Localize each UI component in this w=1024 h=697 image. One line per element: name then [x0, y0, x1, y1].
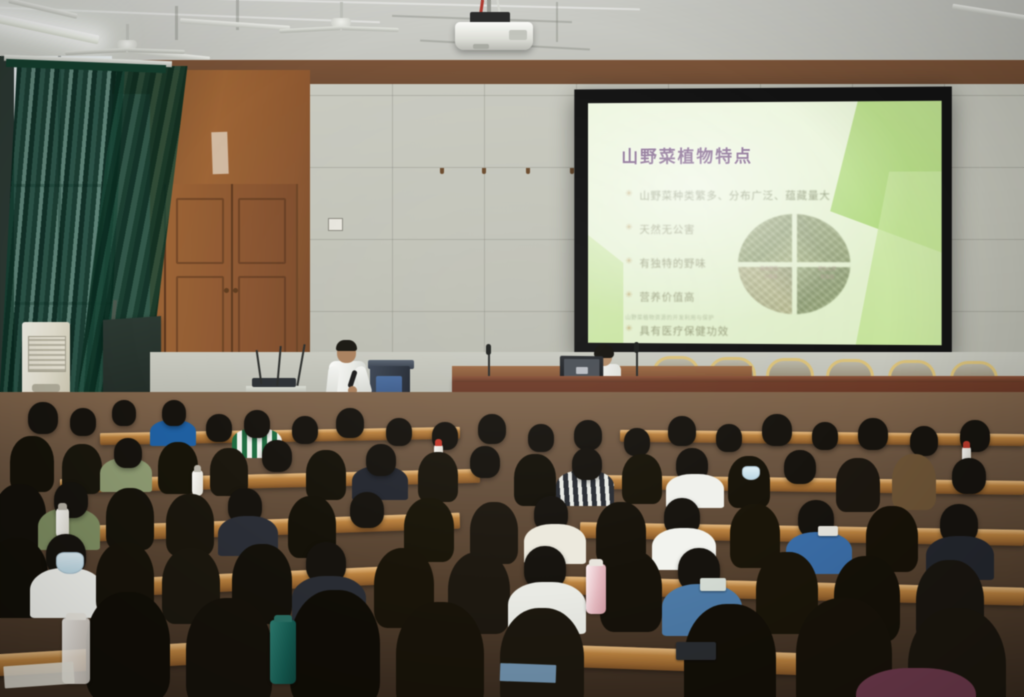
slide-footer-note: 山野菜植物资源的开发利用与保护 — [625, 313, 714, 321]
bullet-marker-icon: ✳ — [625, 256, 633, 269]
bullet-marker-icon: ✳ — [625, 222, 633, 235]
slide-bullet-text: 天然无公害 — [639, 222, 695, 237]
audience-head — [952, 458, 986, 494]
audience-head — [622, 454, 662, 504]
water-bottle — [192, 470, 203, 496]
collage-label: 蕨类野菜 — [760, 266, 778, 272]
audience-head — [106, 488, 154, 550]
audience-head — [366, 444, 396, 476]
audience-head — [112, 400, 136, 426]
slide-decoration-shape — [588, 232, 623, 345]
audience-seating — [0, 392, 1024, 697]
audience-head — [166, 494, 214, 556]
audience-head — [716, 424, 742, 452]
paper-on-desk — [500, 663, 557, 683]
audience-head — [306, 450, 346, 500]
audience-head — [244, 410, 270, 438]
slide-bullet-text: 有独特的野味 — [639, 256, 706, 271]
audience-head — [470, 446, 500, 478]
thermos-bottle — [270, 620, 296, 684]
microphone-icon — [486, 344, 491, 355]
ac-grille — [28, 336, 66, 372]
audience-head — [206, 414, 232, 442]
audience-head — [162, 400, 186, 426]
bullet-marker-icon: ✳ — [625, 323, 633, 336]
collage-label: 刺五加 — [821, 274, 835, 280]
door-knob[interactable] — [233, 288, 238, 293]
wall-notice-paper — [211, 132, 228, 175]
ac-vent — [32, 384, 60, 392]
ceiling-fan — [340, 2, 341, 42]
audience-head — [728, 456, 770, 508]
slide-title: 山野菜植物特点 — [621, 142, 753, 167]
audience-head — [114, 438, 142, 468]
audience-head — [292, 416, 318, 444]
slide-vegetable-collage: 蕨类野菜 野生山芹 小根蒜 刺五加 — [738, 214, 850, 315]
phone-on-desk[interactable] — [818, 526, 838, 536]
projector-vent — [509, 30, 527, 40]
face-mask — [56, 552, 84, 574]
audience-head — [668, 416, 696, 446]
audience-head — [910, 426, 938, 456]
collage-label: 小根蒜 — [764, 274, 777, 280]
lecture-hall-photo: 山野菜植物特点 ✳ 山野菜种类繁多、分布广泛、蕴藏量大 ✳ 天然无公害 ✳ 有独… — [0, 0, 1024, 697]
audience-head — [290, 590, 380, 697]
audience-head — [812, 422, 838, 450]
audience-head — [500, 608, 584, 697]
microphone-icon — [634, 342, 639, 353]
slide-bullet-item: ✳ 具有医疗保健功效 — [625, 323, 874, 340]
ceiling-fan — [126, 24, 127, 64]
collage-quadrant — [794, 214, 850, 264]
slide-bullet-item: ✳ 山野菜种类繁多、分布广泛、蕴藏量大 — [625, 188, 874, 203]
audience-head — [418, 452, 458, 502]
audience-head — [600, 550, 662, 632]
audience-head — [858, 418, 888, 450]
audience-head — [262, 440, 292, 472]
projection-screen: 山野菜植物特点 ✳ 山野菜种类繁多、分布广泛、蕴藏量大 ✳ 天然无公害 ✳ 有独… — [574, 87, 952, 358]
audience-head — [762, 414, 792, 446]
audience-head — [528, 424, 554, 452]
audience-head — [478, 414, 506, 444]
audience-head — [350, 492, 384, 528]
ceiling-projector — [455, 22, 533, 50]
collage-label: 野生山芹 — [818, 266, 836, 272]
audience-head — [784, 450, 816, 484]
thermos-bottle — [586, 564, 606, 614]
face-mask — [742, 466, 760, 480]
audience-head — [396, 602, 484, 697]
cart-equipment — [252, 378, 296, 387]
phone-on-desk[interactable] — [676, 642, 716, 660]
audience-head — [836, 458, 880, 512]
audience-torso — [30, 568, 104, 618]
presenter-hair — [336, 340, 357, 351]
audience-head — [28, 402, 58, 434]
projector-lens — [473, 44, 489, 49]
slide-bullet-text: 具有医疗保健功效 — [639, 323, 728, 339]
slide-surface: 山野菜植物特点 ✳ 山野菜种类繁多、分布广泛、蕴藏量大 ✳ 天然无公害 ✳ 有独… — [588, 101, 942, 346]
bullet-marker-icon: ✳ — [625, 188, 633, 201]
phone-on-desk[interactable] — [700, 578, 726, 591]
bullet-marker-icon: ✳ — [625, 289, 633, 302]
door-knob[interactable] — [224, 288, 229, 293]
slide-bullet-text: 山野菜种类繁多、分布广泛、蕴藏量大 — [639, 188, 830, 203]
audience-head — [574, 420, 602, 450]
collage-quadrant — [738, 214, 794, 264]
audience-head — [386, 418, 412, 446]
audience-head — [572, 448, 602, 480]
audience-head — [86, 592, 170, 697]
slide-bullet-text: 营养价值高 — [639, 290, 695, 305]
audience-head — [624, 428, 650, 456]
audience-head — [186, 598, 272, 697]
audience-head — [892, 454, 936, 510]
audience-head — [70, 408, 96, 436]
audience-head — [336, 408, 364, 438]
wall-speaker — [328, 218, 343, 231]
